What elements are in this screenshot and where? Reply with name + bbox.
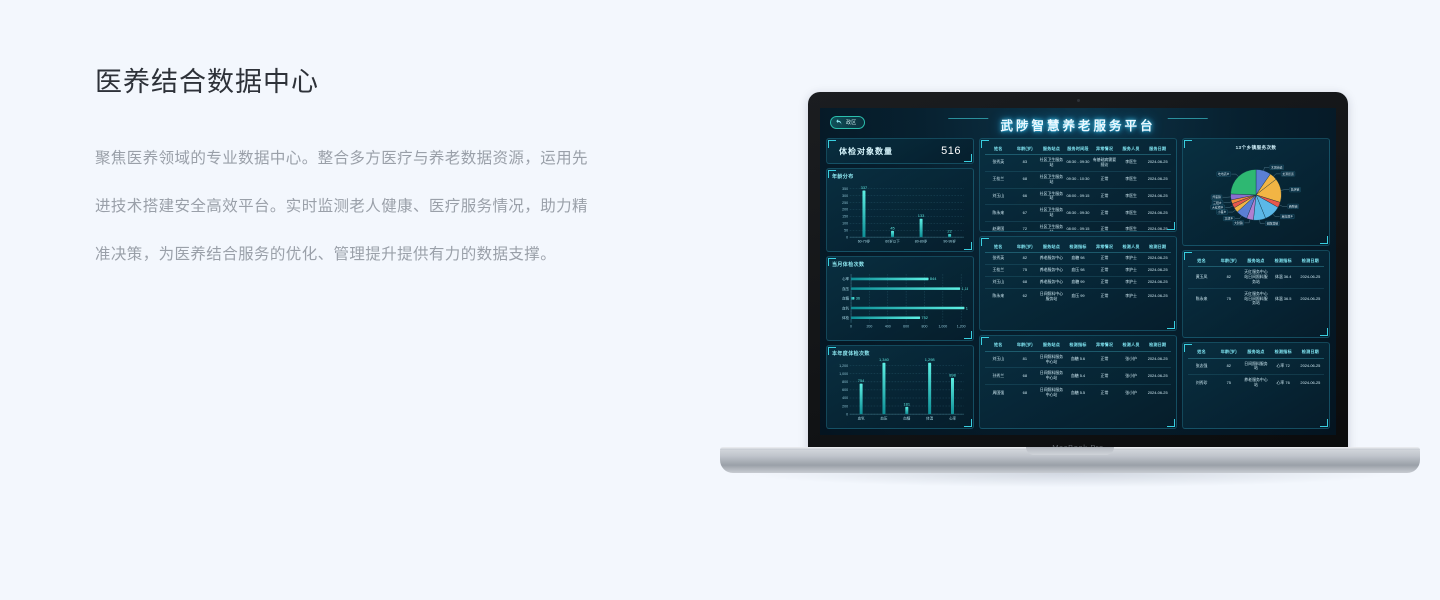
- svg-text:898: 898: [949, 373, 956, 377]
- laptop-base: [720, 447, 1420, 473]
- table-cell: 2024-06-25: [1144, 171, 1171, 188]
- svg-text:三阳乡: 三阳乡: [1213, 200, 1222, 205]
- table-column-header: 服务站点: [1038, 241, 1065, 253]
- table-card-daycare: 姓名年龄(岁)服务站点检测指标异常情况检测人员检测日期刘玉山81日间照料服务中心…: [979, 335, 1177, 429]
- svg-text:血糖: 血糖: [842, 296, 850, 301]
- table-cell: 刘玉山: [985, 277, 1012, 289]
- intro-copy-block: 医养结合数据中心 聚焦医养领域的专业数据中心。整合多方医疗与养老数据资源，运用先…: [95, 62, 615, 279]
- svg-text:1,298: 1,298: [925, 358, 935, 362]
- svg-text:400: 400: [842, 396, 848, 400]
- svg-text:754: 754: [858, 379, 865, 383]
- svg-text:400: 400: [885, 325, 891, 329]
- chart-area-annual-checkup: 02004006008001,0001,200754血氧1,340血压181血糖…: [832, 358, 968, 424]
- page-description: 聚焦医养领域的专业数据中心。整合多方医疗与养老数据资源，运用先进技术搭建安全高效…: [95, 135, 595, 279]
- svg-text:80-89岁: 80-89岁: [915, 239, 928, 244]
- svg-text:龙源街道: 龙源街道: [1282, 171, 1294, 176]
- table-cell: 2024-06-25: [1297, 375, 1324, 391]
- table-cell: 72: [1012, 222, 1039, 233]
- table-cell: 2024-06-25: [1144, 205, 1171, 222]
- table-column-header: 年龄(岁): [1012, 241, 1039, 253]
- table-cell: 08:00 - 09:15: [1065, 222, 1092, 233]
- table-cell: 2024-06-25: [1144, 188, 1171, 205]
- table-cell: 09:30 - 10:30: [1065, 171, 1092, 188]
- table-cell: 陈永来: [1188, 288, 1215, 309]
- svg-text:1,235: 1,235: [966, 307, 968, 311]
- pie-chart-township-service: 木城街道龙源街道詹店镇西陶镇嘉应观乡谢旗营镇大封镇北郭乡小董乡大虹桥乡三阳乡乔庙…: [1188, 151, 1324, 241]
- table-cell: 李护士: [1118, 265, 1145, 277]
- data-table-temperature[interactable]: 姓名年龄(岁)服务站点检测指标检测日期黄玉凤82天红服务中心站日间照料服务站体温…: [1188, 255, 1324, 309]
- dashboard-left-column: 体检对象数量 516 年龄分布 050100150200250300350337…: [826, 138, 974, 429]
- table-row[interactable]: 陈永来62日间照料中心服务站血压 99正常李护士2024-06-25: [985, 288, 1171, 304]
- table-cell: 社区卫生服务站: [1038, 205, 1065, 222]
- table-cell: 75: [1215, 288, 1242, 309]
- laptop-shadow: [750, 473, 1390, 487]
- table-cell: 2024-06-25: [1144, 155, 1171, 172]
- table-cell: 李医生: [1118, 188, 1145, 205]
- svg-text:谢旗营镇: 谢旗营镇: [1267, 220, 1279, 225]
- table-cell: 75: [1215, 375, 1242, 391]
- table-cell: 62: [1012, 288, 1039, 304]
- table-cell: 社区卫生服务站: [1038, 222, 1065, 233]
- table-cell: 82: [1215, 358, 1242, 375]
- table-column-header: 服务人员: [1118, 143, 1145, 155]
- svg-text:嘉应观乡: 嘉应观乡: [1282, 214, 1294, 219]
- table-row[interactable]: 陈永来75天红服务中心站日间照料服务站体温 36.52024-06-25: [1188, 288, 1324, 309]
- table-cell: 刘玉山: [985, 351, 1012, 368]
- svg-text:200: 200: [842, 208, 848, 212]
- laptop-mockup: MacBook Pro 政区: [720, 92, 1420, 492]
- svg-text:0: 0: [846, 412, 848, 416]
- svg-text:1,200: 1,200: [957, 325, 966, 329]
- table-card-measurements: 姓名年龄(岁)服务站点检测指标异常情况检测人员检测日期张秀英82养老服务中心血糖…: [979, 236, 1177, 330]
- table-cell: 2024-06-25: [1144, 222, 1171, 233]
- table-cell: 2024-06-25: [1297, 358, 1324, 375]
- table-cell: 2024-06-25: [1144, 288, 1171, 304]
- kpi-label: 体检对象数量: [839, 146, 893, 157]
- table-cell: 82: [1215, 267, 1242, 289]
- table-card-temperature: 姓名年龄(岁)服务站点检测指标检测日期黄玉凤82天红服务中心站日间照料服务站体温…: [1182, 250, 1330, 338]
- data-table-service-records[interactable]: 姓名年龄(岁)服务站点服务时间段异常情况服务人员服务日期张秀英83社区卫生服务站…: [985, 143, 1171, 232]
- table-column-header: 服务站点: [1038, 340, 1065, 352]
- table-cell: 正常: [1091, 171, 1118, 188]
- table-cell: 张小护: [1118, 385, 1145, 401]
- table-cell: 血压 98: [1065, 265, 1092, 277]
- table-row[interactable]: 刘秀珍75养老服务中心站心率 762024-06-25: [1188, 375, 1324, 391]
- table-cell: 社区卫生服务站: [1038, 155, 1065, 172]
- table-cell: 81: [1012, 351, 1039, 368]
- table-cell: 体温 36.5: [1270, 288, 1297, 309]
- table-row[interactable]: 赵建国72社区卫生服务站08:00 - 09:15正常李医生2024-06-25: [985, 222, 1171, 233]
- svg-text:800: 800: [842, 380, 848, 384]
- table-column-header: 服务时间段: [1065, 143, 1092, 155]
- svg-text:752: 752: [921, 316, 928, 320]
- svg-text:詹店镇: 詹店镇: [1291, 187, 1300, 192]
- svg-text:200: 200: [866, 325, 872, 329]
- table-cell: 王桂兰: [985, 265, 1012, 277]
- table-row[interactable]: 周国强68日间照料服务中心站血糖 5.5正常张小护2024-06-25: [985, 385, 1171, 401]
- svg-text:1,188: 1,188: [961, 287, 968, 291]
- chart-card-age-distribution: 年龄分布 05010015020025030035033760-79岁4560岁…: [826, 168, 974, 252]
- svg-text:小董乡: 小董乡: [1218, 209, 1227, 214]
- svg-text:血糖: 血糖: [903, 415, 911, 420]
- table-cell: 83: [1012, 155, 1039, 172]
- table-cell: 李护士: [1118, 277, 1145, 289]
- table-column-header: 年龄(岁): [1215, 255, 1242, 267]
- table-cell: 日间照料服务中心站: [1038, 351, 1065, 368]
- dashboard-title: 武陟智慧养老服务平台: [1000, 115, 1155, 134]
- table-card-service-records: 姓名年龄(岁)服务站点服务时间段异常情况服务人员服务日期张秀英83社区卫生服务站…: [979, 138, 1177, 232]
- table-cell: 66: [1012, 188, 1039, 205]
- svg-text:100: 100: [842, 222, 848, 226]
- table-cell: 正常: [1091, 253, 1118, 265]
- table-column-header: 年龄(岁): [1012, 340, 1039, 352]
- table-cell: 心率 76: [1270, 375, 1297, 391]
- svg-text:大封镇: 大封镇: [1234, 220, 1243, 225]
- table-cell: 日间照料服务中心站: [1038, 385, 1065, 401]
- svg-text:1,340: 1,340: [879, 358, 889, 362]
- svg-text:90-99岁: 90-99岁: [943, 239, 956, 244]
- table-cell: 血糖 98: [1065, 253, 1092, 265]
- data-table-heartrate[interactable]: 姓名年龄(岁)服务站点检测指标检测日期张志强82日间照料服务站心率 722024…: [1188, 347, 1324, 392]
- table-cell: 日间照料服务中心站: [1038, 368, 1065, 385]
- svg-text:西陶镇: 西陶镇: [1289, 203, 1298, 208]
- table-column-header: 检测指标: [1270, 347, 1297, 359]
- table-row[interactable]: 刘玉山68养老服务中心血糖 99正常李护士2024-06-25: [985, 277, 1171, 289]
- svg-text:50: 50: [844, 229, 848, 233]
- chart-area-age-distribution: 05010015020025030035033760-79岁4560岁以下133…: [832, 181, 968, 247]
- svg-text:乔庙镇: 乔庙镇: [1212, 194, 1221, 199]
- table-cell: 75: [1012, 265, 1039, 277]
- table-header-row: 姓名年龄(岁)服务站点检测指标检测日期: [1188, 255, 1324, 267]
- table-cell: 张秀英: [985, 155, 1012, 172]
- table-cell: 社区卫生服务站: [1038, 171, 1065, 188]
- table-column-header: 服务站点: [1242, 255, 1269, 267]
- svg-text:1,000: 1,000: [938, 325, 947, 329]
- table-cell: 正常: [1091, 277, 1118, 289]
- table-cell: 血糖 99: [1065, 277, 1092, 289]
- table-cell: 李护士: [1118, 288, 1145, 304]
- svg-text:250: 250: [842, 201, 848, 205]
- svg-text:200: 200: [842, 404, 848, 408]
- table-cell: 血糖 5.4: [1065, 368, 1092, 385]
- dashboard-root: 政区 武陟智慧养老服务平台 体检对象数量: [820, 108, 1336, 435]
- table-cell: 2024-06-25: [1144, 277, 1171, 289]
- svg-text:150: 150: [842, 215, 848, 219]
- table-cell: 68: [1012, 277, 1039, 289]
- table-cell: 67: [1012, 205, 1039, 222]
- table-row[interactable]: 张秀英82养老服务中心血糖 98正常李护士2024-06-25: [985, 253, 1171, 265]
- svg-text:血氧: 血氧: [858, 415, 866, 420]
- table-cell: 08:30 - 09:30: [1065, 205, 1092, 222]
- table-column-header: 姓名: [985, 340, 1012, 352]
- table-row[interactable]: 陈永来67社区卫生服务站08:30 - 09:30正常李医生2024-06-25: [985, 205, 1171, 222]
- svg-text:木城街道: 木城街道: [1271, 164, 1283, 169]
- table-cell: 养老服务中心: [1038, 265, 1065, 277]
- table-cell: 正常: [1091, 265, 1118, 277]
- dashboard-right-column: 13个乡镇服务次数 木城街道龙源街道詹店镇西陶镇嘉应观乡谢旗营镇大封镇北郭乡小董…: [1182, 138, 1330, 429]
- svg-text:600: 600: [903, 325, 909, 329]
- table-row[interactable]: 孙秀兰68日间照料服务中心站血糖 5.4正常张小护2024-06-25: [985, 368, 1171, 385]
- svg-text:圪垱店乡: 圪垱店乡: [1218, 171, 1230, 176]
- table-column-header: 年龄(岁): [1012, 143, 1039, 155]
- table-cell: 陈永来: [985, 288, 1012, 304]
- svg-text:血压: 血压: [842, 286, 850, 291]
- table-cell: 陈永来: [985, 205, 1012, 222]
- table-header-row: 姓名年龄(岁)服务站点检测指标异常情况检测人员检测日期: [985, 241, 1171, 253]
- table-cell: 2024-06-25: [1144, 253, 1171, 265]
- svg-text:337: 337: [861, 186, 868, 190]
- table-cell: 日间照料中心服务站: [1038, 288, 1065, 304]
- laptop-lid: MacBook Pro 政区: [808, 92, 1348, 457]
- table-cell: 刘玉山: [985, 188, 1012, 205]
- chart-title-age-distribution: 年龄分布: [832, 173, 968, 180]
- chart-area-township-pie: 木城街道龙源街道詹店镇西陶镇嘉应观乡谢旗营镇大封镇北郭乡小董乡大虹桥乡三阳乡乔庙…: [1188, 151, 1324, 241]
- table-cell: 养老服务中心: [1038, 253, 1065, 265]
- svg-text:北郭乡: 北郭乡: [1225, 216, 1234, 221]
- table-cell: 养老服务中心站: [1242, 375, 1269, 391]
- svg-text:133: 133: [918, 214, 925, 218]
- kpi-value: 516: [941, 145, 961, 157]
- svg-text:800: 800: [922, 325, 928, 329]
- table-cell: 张小护: [1118, 368, 1145, 385]
- table-cell: 2024-06-25: [1144, 368, 1171, 385]
- table-cell: 08:30 - 09:30: [1065, 155, 1092, 172]
- table-cell: 血糖 5.6: [1065, 351, 1092, 368]
- svg-text:心率: 心率: [949, 415, 957, 420]
- table-column-header: 异常情况: [1091, 241, 1118, 253]
- table-cell: 2024-06-25: [1297, 267, 1324, 289]
- table-cell: 血糖 5.5: [1065, 385, 1092, 401]
- svg-text:181: 181: [904, 402, 911, 406]
- table-cell: 李医生: [1118, 171, 1145, 188]
- table-row[interactable]: 刘玉山66社区卫生服务站08:00 - 09:15正常李医生2024-06-25: [985, 188, 1171, 205]
- dashboard-header: 政区 武陟智慧养老服务平台: [826, 112, 1330, 138]
- table-column-header: 年龄(岁): [1215, 347, 1242, 359]
- table-cell: 82: [1012, 253, 1039, 265]
- dashboard-title-wrap: 武陟智慧养老服务平台: [826, 113, 1330, 135]
- table-cell: 正常: [1091, 351, 1118, 368]
- table-column-header: 服务站点: [1242, 347, 1269, 359]
- table-cell: 正常: [1091, 188, 1118, 205]
- svg-text:心率: 心率: [842, 277, 850, 282]
- svg-text:60-79岁: 60-79岁: [858, 239, 871, 244]
- bar-chart-annual-checkup: 02004006008001,0001,200754血氧1,340血压181血糖…: [832, 358, 968, 424]
- table-cell: 周国强: [985, 385, 1012, 401]
- svg-text:1,200: 1,200: [839, 364, 848, 368]
- table-cell: 赵建国: [985, 222, 1012, 233]
- table-column-header: 服务日期: [1144, 143, 1171, 155]
- landing-page: 医养结合数据中心 聚焦医养领域的专业数据中心。整合多方医疗与养老数据资源，运用先…: [0, 0, 1440, 600]
- table-column-header: 检测人员: [1118, 340, 1145, 352]
- data-table-measurements[interactable]: 姓名年龄(岁)服务站点检测指标异常情况检测人员检测日期张秀英82养老服务中心血糖…: [985, 241, 1171, 304]
- table-cell: 张小护: [1118, 351, 1145, 368]
- table-card-heartrate: 姓名年龄(岁)服务站点检测指标检测日期张志强82日间照料服务站心率 722024…: [1182, 342, 1330, 430]
- table-cell: 李医生: [1118, 205, 1145, 222]
- table-cell: 正常: [1091, 205, 1118, 222]
- table-cell: 2024-06-25: [1144, 351, 1171, 368]
- chart-card-annual-checkup: 本年度体检次数 02004006008001,0001,200754血氧1,34…: [826, 345, 974, 429]
- table-cell: 正常: [1091, 288, 1118, 304]
- svg-text:300: 300: [842, 194, 848, 198]
- table-cell: 张志强: [1188, 358, 1215, 375]
- svg-text:844: 844: [930, 278, 937, 282]
- table-cell: 有基础病需要随访: [1091, 155, 1118, 172]
- table-row[interactable]: 王桂兰68社区卫生服务站09:30 - 10:30正常李医生2024-06-25: [985, 171, 1171, 188]
- kpi-card-checkup-count: 体检对象数量 516: [826, 138, 974, 164]
- table-column-header: 检测指标: [1065, 340, 1092, 352]
- table-cell: 体温 36.4: [1270, 267, 1297, 289]
- table-cell: 天红服务中心站日间照料服务站: [1242, 288, 1269, 309]
- table-row[interactable]: 王桂兰75养老服务中心血压 98正常李护士2024-06-25: [985, 265, 1171, 277]
- table-cell: 2024-06-25: [1144, 385, 1171, 401]
- dashboard-middle-column: 姓名年龄(岁)服务站点服务时间段异常情况服务人员服务日期张秀英83社区卫生服务站…: [979, 138, 1177, 429]
- svg-text:60岁以下: 60岁以下: [885, 239, 900, 244]
- table-column-header: 异常情况: [1091, 340, 1118, 352]
- chart-title-annual-checkup: 本年度体检次数: [832, 350, 968, 357]
- data-table-daycare[interactable]: 姓名年龄(岁)服务站点检测指标异常情况检测人员检测日期刘玉山81日间照料服务中心…: [985, 340, 1171, 401]
- table-column-header: 检测指标: [1270, 255, 1297, 267]
- svg-text:血压: 血压: [880, 415, 888, 420]
- svg-text:血氧: 血氧: [842, 306, 850, 311]
- table-header-row: 姓名年龄(岁)服务站点检测指标异常情况检测人员检测日期: [985, 340, 1171, 352]
- table-cell: 黄玉凤: [1188, 267, 1215, 289]
- table-column-header: 姓名: [1188, 255, 1215, 267]
- svg-text:350: 350: [842, 187, 848, 191]
- table-column-header: 服务站点: [1038, 143, 1065, 155]
- svg-text:45: 45: [890, 226, 894, 230]
- table-cell: 08:00 - 09:15: [1065, 188, 1092, 205]
- table-cell: 正常: [1091, 385, 1118, 401]
- table-cell: 68: [1012, 385, 1039, 401]
- table-header-row: 姓名年龄(岁)服务站点检测指标检测日期: [1188, 347, 1324, 359]
- svg-text:体温: 体温: [926, 415, 934, 420]
- table-header-row: 姓名年龄(岁)服务站点服务时间段异常情况服务人员服务日期: [985, 143, 1171, 155]
- table-cell: 孙秀兰: [985, 368, 1012, 385]
- dashboard-body: 体检对象数量 516 年龄分布 050100150200250300350337…: [826, 138, 1330, 429]
- svg-text:22: 22: [947, 230, 951, 234]
- table-row[interactable]: 张秀英83社区卫生服务站08:30 - 09:30有基础病需要随访李医生2024…: [985, 155, 1171, 172]
- table-cell: 正常: [1091, 368, 1118, 385]
- svg-text:36: 36: [856, 297, 860, 301]
- table-cell: 正常: [1091, 222, 1118, 233]
- svg-text:600: 600: [842, 388, 848, 392]
- table-column-header: 检测日期: [1144, 241, 1171, 253]
- table-column-header: 姓名: [985, 143, 1012, 155]
- table-column-header: 检测日期: [1144, 340, 1171, 352]
- table-cell: 心率 72: [1270, 358, 1297, 375]
- table-cell: 2024-06-25: [1297, 288, 1324, 309]
- table-cell: 天红服务中心站日间照料服务站: [1242, 267, 1269, 289]
- table-cell: 王桂兰: [985, 171, 1012, 188]
- table-cell: 李医生: [1118, 222, 1145, 233]
- table-row[interactable]: 黄玉凤82天红服务中心站日间照料服务站体温 36.42024-06-25: [1188, 267, 1324, 289]
- table-cell: 社区卫生服务站: [1038, 188, 1065, 205]
- title-decoration: 武陟智慧养老服务平台: [966, 115, 1189, 134]
- table-cell: 68: [1012, 368, 1039, 385]
- table-column-header: 异常情况: [1091, 143, 1118, 155]
- table-cell: 李医生: [1118, 155, 1145, 172]
- page-title: 医养结合数据中心: [95, 62, 615, 102]
- table-cell: 刘秀珍: [1188, 375, 1215, 391]
- table-cell: 2024-06-25: [1144, 265, 1171, 277]
- table-row[interactable]: 刘玉山81日间照料服务中心站血糖 5.6正常张小护2024-06-25: [985, 351, 1171, 368]
- chart-title-service-count: 当月体检次数: [832, 261, 968, 268]
- svg-text:体检: 体检: [842, 315, 850, 320]
- table-column-header: 检测指标: [1065, 241, 1092, 253]
- table-row[interactable]: 张志强82日间照料服务站心率 722024-06-25: [1188, 358, 1324, 375]
- table-cell: 李护士: [1118, 253, 1145, 265]
- chart-card-service-count: 当月体检次数 02004006008001,0001,200844心率1,188…: [826, 256, 974, 340]
- table-cell: 养老服务中心: [1038, 277, 1065, 289]
- table-cell: 血压 99: [1065, 288, 1092, 304]
- table-column-header: 检测日期: [1297, 347, 1324, 359]
- table-column-header: 姓名: [985, 241, 1012, 253]
- table-cell: 张秀英: [985, 253, 1012, 265]
- chart-area-service-count: 02004006008001,0001,200844心率1,188血压36血糖1…: [832, 269, 968, 335]
- bar-chart-age-distribution: 05010015020025030035033760-79岁4560岁以下133…: [832, 181, 968, 247]
- svg-text:0: 0: [850, 325, 852, 329]
- table-column-header: 检测人员: [1118, 241, 1145, 253]
- svg-text:0: 0: [846, 235, 848, 239]
- table-cell: 日间照料服务站: [1242, 358, 1269, 375]
- webcam-icon: [1077, 99, 1080, 102]
- svg-text:1,000: 1,000: [839, 372, 848, 376]
- table-cell: 68: [1012, 171, 1039, 188]
- chart-card-township-pie: 13个乡镇服务次数 木城街道龙源街道詹店镇西陶镇嘉应观乡谢旗营镇大封镇北郭乡小董…: [1182, 138, 1330, 246]
- laptop-screen: 政区 武陟智慧养老服务平台 体检对象数量: [820, 108, 1336, 435]
- bar-chart-service-count: 02004006008001,0001,200844心率1,188血压36血糖1…: [832, 269, 968, 335]
- laptop-notch: [1026, 447, 1114, 455]
- table-column-header: 检测日期: [1297, 255, 1324, 267]
- table-column-header: 姓名: [1188, 347, 1215, 359]
